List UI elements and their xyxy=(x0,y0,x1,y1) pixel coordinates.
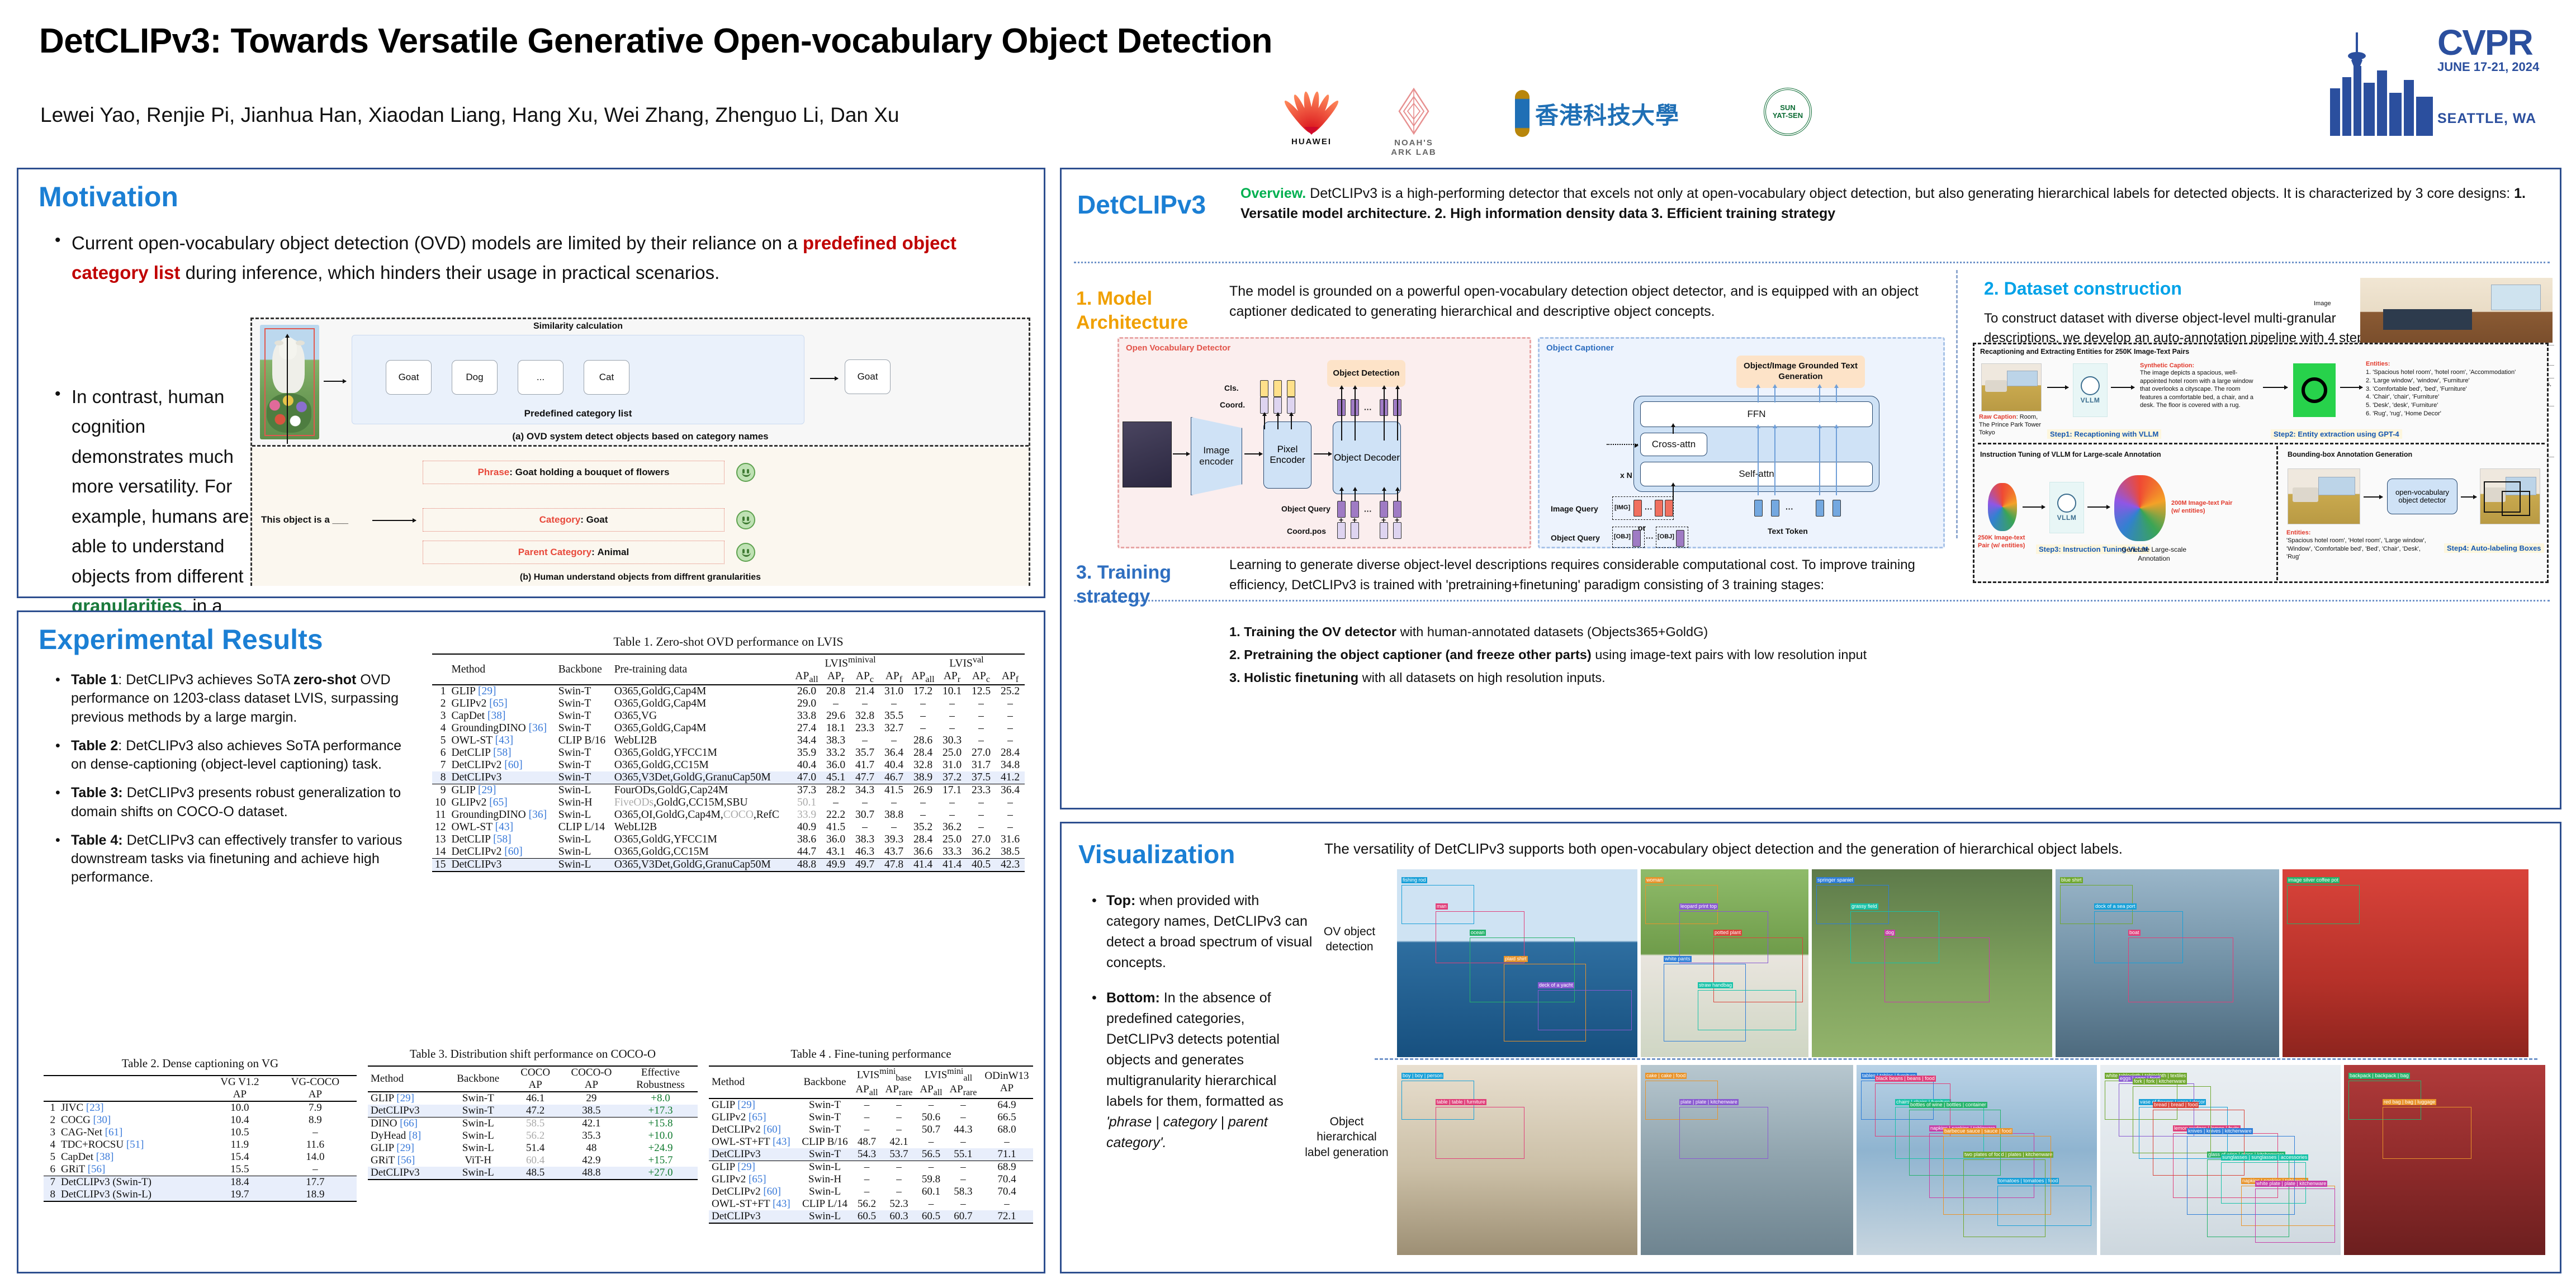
row-backbone: Swin-T xyxy=(798,1098,852,1111)
row-value: 38.3 xyxy=(821,735,850,747)
granularity-value-parent: Animal xyxy=(598,547,629,558)
detection-box xyxy=(1698,990,1796,1030)
category-chip-goat: Goat xyxy=(386,360,432,395)
row-robustness: +15.8 xyxy=(623,1117,698,1130)
row-value: 36.0 xyxy=(821,834,850,846)
row-value: 34.3 xyxy=(850,784,879,797)
image-query-label: Image Query xyxy=(1551,504,1598,513)
dataset-pipeline-figure: Recaptioning and Extracting Entities for… xyxy=(1973,343,2549,583)
row-value: 50.1 xyxy=(792,797,821,809)
row-method: JIVC [23] xyxy=(58,1101,206,1114)
row-method: GLIPv2 [65] xyxy=(709,1173,798,1186)
row-value: 17.1 xyxy=(937,784,967,797)
author-list: Lewei Yao, Renjie Pi, Jianhua Han, Xiaod… xyxy=(40,103,899,127)
row-value: 54.3 xyxy=(852,1148,882,1161)
row-data: O365,GoldG,YFCC1M xyxy=(612,747,792,759)
row-value: – xyxy=(908,698,937,710)
smiley-icon-2 xyxy=(736,510,755,529)
row-value: – xyxy=(879,698,908,710)
table-row: 8DetCLIPv3Swin-TO365,V3Det,GoldG,GranuCa… xyxy=(432,771,1025,784)
row-value: 15.4 xyxy=(206,1151,274,1163)
row-value: 28.4 xyxy=(908,747,937,759)
row-value: 25.2 xyxy=(996,685,1025,698)
table-row: 10GLIPv2 [65]Swin-HFiveODs,GoldG,CC15M,S… xyxy=(432,797,1025,809)
row-data: O365,V3Det,GoldG,GranuCap50M xyxy=(612,859,792,872)
table-row: 2COCG [30]10.48.9 xyxy=(44,1114,357,1126)
t1-h-data: Pre-training data xyxy=(612,654,792,685)
row-coco: 56.2 xyxy=(511,1130,559,1142)
cls-label: Cls. xyxy=(1224,383,1239,392)
row-method: OWL-ST [43] xyxy=(449,821,556,834)
visualization-row-bottom: boy | boy | persontable | table | furnit… xyxy=(1397,1065,2545,1255)
row-value: 50.6 xyxy=(916,1111,946,1124)
row-value: – xyxy=(821,698,850,710)
row-backbone: Swin-T xyxy=(798,1148,852,1161)
detection-label: woman xyxy=(1645,877,1664,883)
motivation-bullet-2-a: In contrast, human cognition demonstrate… xyxy=(72,386,249,586)
row-value: – xyxy=(908,722,937,735)
row-value: 22.2 xyxy=(821,809,850,821)
category-chip-dog: Dog xyxy=(452,360,498,395)
row-method: GroundingDINO [36] xyxy=(449,809,556,821)
entity-item-3: 3. 'Comfortable bed', 'bed', 'Furniture' xyxy=(2366,385,2539,394)
motivation-figure-b: This object is a ___ Phrase: Goat holdin… xyxy=(252,448,1029,586)
overview-label: Overview. xyxy=(1240,186,1306,201)
row-value: 36.2 xyxy=(937,821,967,834)
row-value: 47.0 xyxy=(792,771,821,784)
detection-box xyxy=(1538,990,1632,1030)
goat-image xyxy=(260,325,319,439)
category-chip-ellipsis: ... xyxy=(518,360,563,395)
granularity-row-phrase: Phrase: Goat holding a bouquet of flower… xyxy=(423,461,724,484)
row-index: 6 xyxy=(44,1163,58,1176)
row-backbone: Swin-L xyxy=(798,1186,852,1198)
t4-sub-1: APrare xyxy=(882,1083,916,1098)
row-value: 64.9 xyxy=(981,1098,1033,1111)
t4-sub-3: APrare xyxy=(946,1083,981,1098)
t1-sub-7: APf xyxy=(996,670,1025,685)
row-data: O365,V3Det,GoldG,GranuCap50M xyxy=(612,771,792,784)
row-value: 34.8 xyxy=(996,759,1025,771)
table-row: DetCLIPv3Swin-L48.548.8+27.0 xyxy=(368,1167,698,1180)
row-value: – xyxy=(946,1111,981,1124)
row-backbone: Swin-T xyxy=(556,685,612,698)
row-value: – xyxy=(967,710,996,722)
visualization-image: white tablecloth | tablecloth | textiles… xyxy=(2100,1065,2341,1255)
table3-container: Table 3. Distribution shift performance … xyxy=(368,1047,698,1180)
entity-item-4: 4. 'Chair', 'chair', 'Furniture' xyxy=(2366,393,2539,401)
row-value: 33.3 xyxy=(937,846,967,859)
step4-tag: Step4: Auto-labeling Boxes xyxy=(2444,543,2544,553)
t1-sub-5: APr xyxy=(937,670,967,685)
ovd-label: Open Vocabulary Detector xyxy=(1126,343,1230,353)
detection-label: grassy field xyxy=(1850,903,1878,910)
detection-label: table | table | furniture xyxy=(1436,1099,1486,1105)
row-value: – xyxy=(274,1163,357,1176)
row-value: 70.4 xyxy=(981,1173,1033,1186)
t2-h-vgcoco: VG-COCO xyxy=(274,1076,357,1088)
row-backbone: Swin-T xyxy=(556,759,612,771)
pipeline-panel1-title: Recaptioning and Extracting Entities for… xyxy=(1980,348,2189,356)
row-value: 33.8 xyxy=(792,710,821,722)
row-value: – xyxy=(967,735,996,747)
row-value: – xyxy=(852,1173,882,1186)
smiley-icon-1 xyxy=(736,463,755,482)
row-index: 1 xyxy=(44,1101,58,1114)
t1-sub-6: APc xyxy=(967,670,996,685)
annotated-room-image xyxy=(2480,468,2540,524)
row-data: O365,GoldG,Cap4M xyxy=(612,698,792,710)
llama-icon-1 xyxy=(2081,376,2100,395)
row-method: DetCLIP [58] xyxy=(449,747,556,759)
row-label-hierarchical: Object hierarchical label generation xyxy=(1305,1114,1389,1160)
object-query-label: Object Query xyxy=(1281,504,1330,513)
t2-h-vg: VG V1.2 xyxy=(206,1076,274,1088)
detection-label: barbecue sauce | sauce | food xyxy=(1943,1128,2012,1134)
row-value: 35.9 xyxy=(792,747,821,759)
detclipv3-title: DetCLIPv3 xyxy=(1077,190,1206,220)
detection-box xyxy=(1884,937,1990,1002)
row-method: OWL-ST+FT [43] xyxy=(709,1198,798,1210)
row-index: 11 xyxy=(432,809,449,821)
row-value: 33.9 xyxy=(792,809,821,821)
row-backbone: ViT-H xyxy=(445,1154,511,1167)
row-value: 66.5 xyxy=(981,1111,1033,1124)
row-value: 36.0 xyxy=(821,759,850,771)
raw-caption-block: Raw Caption: Room, The Prince Park Tower… xyxy=(1979,414,2046,437)
table-row: 11GroundingDINO [36]Swin-LO365,OI,GoldG,… xyxy=(432,809,1025,821)
row-value: 39.3 xyxy=(879,834,908,846)
row-value: 28.4 xyxy=(908,834,937,846)
row-value: 10.4 xyxy=(206,1114,274,1126)
row-backbone: Swin-L xyxy=(445,1130,511,1142)
row-value: 23.3 xyxy=(967,784,996,797)
row-value: 26.0 xyxy=(792,685,821,698)
training-stage-2-num: 2. xyxy=(1229,647,1240,662)
cvpr-logo: CVPR JUNE 17-21, 2024 SEATTLE, WA xyxy=(2326,11,2549,145)
table-row: 5OWL-ST [43]CLIP B/16WebLI2B34.438.3––28… xyxy=(432,735,1025,747)
row-backbone: Swin-L xyxy=(445,1142,511,1154)
exp-b1-lead: Table 1 xyxy=(71,672,118,688)
table-row: GLIPv2 [65]Swin-H––59.8–70.4 xyxy=(709,1173,1033,1186)
detection-box xyxy=(2133,1086,2211,1153)
hkust-mark-icon xyxy=(1515,90,1529,137)
entity-item-5: 5. 'Desk', 'desk', 'Furniture' xyxy=(2366,401,2539,410)
prompt-text: This object is a ___ xyxy=(261,514,348,525)
row-method: GLIP [29] xyxy=(709,1098,798,1111)
similarity-calculation-box: Similarity calculation Goat Dog ... Cat … xyxy=(352,335,804,424)
experimental-results-title: Experimental Results xyxy=(39,623,323,656)
motivation-bullet-1-a: Current open-vocabulary object detection… xyxy=(72,233,803,253)
detection-label: red bag | bag | luggage xyxy=(2383,1099,2436,1105)
t1-h-backbone: Backbone xyxy=(556,654,612,685)
row-method: GLIP [29] xyxy=(368,1142,445,1154)
visualization-image: tables | tables | furniturechairs | chai… xyxy=(1857,1065,2097,1255)
row-method: DetCLIPv2 [60] xyxy=(449,846,556,859)
table2-container: Table 2. Dense captioning on VG VG V1.2 … xyxy=(44,1057,357,1202)
table-row: GLIP [29]Swin-L51.448+24.9 xyxy=(368,1142,698,1154)
visualization-image: image silver coffee pot xyxy=(2283,869,2528,1057)
motivation-figure-b-caption: (b) Human understand objects from diffre… xyxy=(252,572,1029,583)
row-value: – xyxy=(996,698,1025,710)
huawei-logo: HUAWEI xyxy=(1286,87,1337,146)
visualization-image: fishing rodmanoceanplaid shirtdeck of a … xyxy=(1397,869,1637,1057)
detection-label: boy | boy | person xyxy=(1401,1073,1443,1079)
experimental-results-panel: Experimental Results • Table 1: DetCLIPv… xyxy=(17,610,1045,1273)
row-value: 56.2 xyxy=(852,1198,882,1210)
table2-body: 1JIVC [23]10.07.92COCG [30]10.48.93CAG-N… xyxy=(44,1101,357,1201)
row-data: WebLI2B xyxy=(612,821,792,834)
row-value: 60.1 xyxy=(916,1186,946,1198)
detection-label: plaid shirt xyxy=(1504,956,1528,962)
page-title: DetCLIPv3: Towards Versatile Generative … xyxy=(39,21,1272,61)
vis-b2-rest: In the absence of predefined categories,… xyxy=(1106,990,1284,1109)
table-row: 5CapDet [38]15.414.0 xyxy=(44,1151,357,1163)
table4-body: GLIP [29]Swin-T––––64.9GLIPv2 [65]Swin-T… xyxy=(709,1098,1033,1223)
row-method: CapDet [38] xyxy=(449,710,556,722)
row-index: 1 xyxy=(432,685,449,698)
row-value: 30.3 xyxy=(937,735,967,747)
row-index: 2 xyxy=(432,698,449,710)
table1-container: Table 1. Zero-shot OVD performance on LV… xyxy=(432,634,1025,872)
row-value: 28.4 xyxy=(996,747,1025,759)
t4-h-method: Method xyxy=(709,1066,798,1098)
250k-label: 250K Image-text Pair (w/ entities) xyxy=(1978,534,2034,550)
training-stage-3-bold: Holistic finetuning xyxy=(1244,670,1358,685)
row-data: O365,GoldG,CC15M xyxy=(612,759,792,771)
section-training-strategy-title: 3. Training strategy xyxy=(1076,561,1221,608)
visualization-image: blue shirtdock of a sea portboat xyxy=(2056,869,2279,1057)
row-value: – xyxy=(882,1173,916,1186)
row-backbone: Swin-T xyxy=(556,747,612,759)
row-data: FourODs,GoldG,Cap24M xyxy=(612,784,792,797)
row-backbone: Swin-T xyxy=(556,698,612,710)
row-value: 18.1 xyxy=(821,722,850,735)
row-backbone: Swin-L xyxy=(556,784,612,797)
row-value: – xyxy=(946,1161,981,1173)
row-cocoo: 38.5 xyxy=(560,1105,623,1117)
granularity-value-category: Goat xyxy=(586,514,608,525)
row-value: – xyxy=(937,809,967,821)
row-value: 60.5 xyxy=(852,1210,882,1223)
row-data: WebLI2B xyxy=(612,735,792,747)
detection-box xyxy=(1436,1107,1524,1159)
table2-caption: Table 2. Dense captioning on VG xyxy=(44,1057,357,1071)
row-value: 23.3 xyxy=(850,722,879,735)
row-backbone: Swin-L xyxy=(556,846,612,859)
t1-sub-0: APall xyxy=(792,670,821,685)
row-value: 10.0 xyxy=(206,1101,274,1114)
row-index: 8 xyxy=(432,771,449,784)
row-value: 21.4 xyxy=(850,685,879,698)
synthetic-caption-label: Synthetic Caption: xyxy=(2140,362,2257,369)
t1-sub-2: APc xyxy=(850,670,879,685)
row-method: GLIPv2 [65] xyxy=(449,698,556,710)
row-value: 59.8 xyxy=(916,1173,946,1186)
row-value: 17.2 xyxy=(908,685,937,698)
table-row: DetCLIPv3 Swin-T54.353.756.555.171.1 xyxy=(709,1148,1033,1161)
row-value: 29.0 xyxy=(792,698,821,710)
table-row: 15DetCLIPv3Swin-LO365,V3Det,GoldG,GranuC… xyxy=(432,859,1025,872)
text-generation-output: Object/Image Grounded Text Generation xyxy=(1736,356,1865,388)
table-row: GLIP [29]Swin-L––––68.9 xyxy=(709,1161,1033,1173)
synthetic-caption-block: Synthetic Caption: The image depicts a s… xyxy=(2140,362,2257,410)
row-value: – xyxy=(996,809,1025,821)
row-data: O365,VG xyxy=(612,710,792,722)
vllm-label-1: VLLM xyxy=(2081,396,2100,404)
row-label-ov-detection: OV object detection xyxy=(1316,924,1383,955)
row-value: 35.5 xyxy=(879,710,908,722)
row-value: 32.8 xyxy=(908,759,937,771)
detection-label: leopard print top xyxy=(1679,903,1718,910)
obj-token-label-2: [OBJ] xyxy=(1658,533,1674,540)
table1-caption: Table 1. Zero-shot OVD performance on LV… xyxy=(432,634,1025,649)
visualization-subtitle: The versatility of DetCLIPv3 supports bo… xyxy=(1324,840,2543,858)
row-index: 13 xyxy=(432,834,449,846)
row-value: 25.0 xyxy=(937,747,967,759)
row-value: 60.7 xyxy=(946,1210,981,1223)
openai-icon xyxy=(2302,377,2327,403)
table-row: DetCLIPv2 [60]Swin-L––60.158.370.4 xyxy=(709,1186,1033,1198)
table1-body: 1GLIP [29]Swin-TO365,GoldG,Cap4M26.020.8… xyxy=(432,685,1025,872)
row-index: 15 xyxy=(432,859,449,872)
row-index: 3 xyxy=(432,710,449,722)
t1-group-minival: LVISminival xyxy=(792,654,908,670)
row-value: – xyxy=(850,735,879,747)
row-backbone: Swin-L xyxy=(556,809,612,821)
obj-token-label-1: [OBJ] xyxy=(1614,533,1631,540)
detection-box xyxy=(2287,885,2360,924)
row-cocoo: 42.1 xyxy=(560,1117,623,1130)
detection-label: bottles of wine | bottles | container xyxy=(1909,1102,1987,1108)
row-value: – xyxy=(879,735,908,747)
row-value: 20.8 xyxy=(821,685,850,698)
table-row: OWL-ST+FT [43]CLIP L/1456.252.3––– xyxy=(709,1198,1033,1210)
row-method: TDC+ROCSU [51] xyxy=(58,1139,206,1151)
motivation-title: Motivation xyxy=(39,181,178,213)
detection-label: fishing rod xyxy=(1401,877,1427,883)
row-value: 7.9 xyxy=(274,1101,357,1114)
t4-sub-2: APall xyxy=(916,1083,946,1098)
row-value: – xyxy=(967,809,996,821)
row-method: GLIP [29] xyxy=(449,685,556,698)
captioner-label: Object Captioner xyxy=(1546,343,1614,353)
table1: Method Backbone Pre-training data LVISmi… xyxy=(432,654,1025,872)
granularity-value-phrase: Goat holding a bouquet of flowers xyxy=(515,467,670,478)
row-value: 27.0 xyxy=(967,834,996,846)
row-value: 8.9 xyxy=(274,1114,357,1126)
row-backbone: Swin-T xyxy=(556,722,612,735)
row-value: – xyxy=(946,1098,981,1111)
row-value: 71.1 xyxy=(981,1148,1033,1161)
step2-tag: Step2: Entity extraction using GPT-4 xyxy=(2271,429,2402,439)
training-stage-3-rest: with all datasets on high resolution inp… xyxy=(1358,670,1606,685)
row-value: – xyxy=(967,698,996,710)
detection-label: straw handbag xyxy=(1698,982,1733,988)
motivation-panel: Motivation • Current open-vocabulary obj… xyxy=(17,168,1045,598)
row-backbone: Swin-H xyxy=(798,1173,852,1186)
t1-sub-1: APr xyxy=(821,670,850,685)
t1-sub-3: APf xyxy=(879,670,908,685)
row-value: – xyxy=(882,1124,916,1136)
row-value: 34.4 xyxy=(792,735,821,747)
row-method: DINO [66] xyxy=(368,1117,445,1130)
row-value: 31.0 xyxy=(937,759,967,771)
row-value: 28.6 xyxy=(908,735,937,747)
table-row: 1JIVC [23]10.07.9 xyxy=(44,1101,357,1114)
row-value: 48.7 xyxy=(852,1136,882,1148)
detection-label: plate | plate | kitchenware xyxy=(1679,1099,1739,1105)
detection-box xyxy=(2255,1188,2335,1243)
row-value: – xyxy=(852,1161,882,1173)
table-row: DetCLIPv3Swin-T47.238.5+17.3 xyxy=(368,1105,698,1117)
row-method: GroundingDINO [36] xyxy=(449,722,556,735)
vis-b2-italic: 'phrase | category | parent category'. xyxy=(1106,1114,1268,1150)
similarity-calculation-label: Similarity calculation xyxy=(352,321,804,332)
row-value: 40.9 xyxy=(792,821,821,834)
table3-body: GLIP [29]Swin-T46.129+8.0DetCLIPv3Swin-T… xyxy=(368,1092,698,1180)
row-value: 42.1 xyxy=(882,1136,916,1148)
sysu-logo: SUNYAT-SEN xyxy=(1764,88,1812,136)
llama-icon-2 xyxy=(2057,494,2076,513)
row-value: – xyxy=(852,1186,882,1198)
row-value: 25.0 xyxy=(937,834,967,846)
cvpr-wordmark: CVPR xyxy=(2437,26,2539,60)
kitchen-image xyxy=(2360,278,2553,343)
table2: VG V1.2 VG-COCO AP AP 1JIVC [23]10.07.92… xyxy=(44,1075,357,1202)
row-value: 18.4 xyxy=(206,1176,274,1189)
xn-label: x N xyxy=(1620,471,1632,480)
image-encoder-block: Image encoder xyxy=(1191,417,1242,495)
row-index: 7 xyxy=(432,759,449,771)
row-coco: 47.2 xyxy=(511,1105,559,1117)
motivation-bullet-1-b: during inference, which hinders their us… xyxy=(180,262,719,283)
training-stage-1-num: 1. xyxy=(1229,624,1240,639)
pipeline-panel3-title: Instruction Tuning of VLLM for Large-sca… xyxy=(1980,451,2161,458)
row-value: – xyxy=(879,797,908,809)
object-detection-output: Object Detection xyxy=(1327,360,1405,387)
row-method: CapDet [38] xyxy=(58,1151,206,1163)
ds-image-row: Image xyxy=(2359,276,2554,345)
row-value: 41.7 xyxy=(850,759,879,771)
row-index: 3 xyxy=(44,1126,58,1139)
row-value: – xyxy=(937,797,967,809)
detection-box xyxy=(1943,1136,2051,1215)
detection-box xyxy=(2383,1107,2471,1159)
row-coco: 51.4 xyxy=(511,1142,559,1154)
t1-sub-4: APall xyxy=(908,670,937,685)
overview-body: DetCLIPv3 is a high-performing detector … xyxy=(1306,186,2514,201)
row-value: 10.5 xyxy=(206,1126,274,1139)
row-method: DetCLIPv3 xyxy=(368,1167,445,1180)
t3-h-backbone: Backbone xyxy=(445,1066,511,1092)
row-value: – xyxy=(882,1098,916,1111)
row-value: 55.1 xyxy=(946,1148,981,1161)
poster-header: DetCLIPv3: Towards Versatile Generative … xyxy=(0,0,2576,168)
row-cocoo: 48 xyxy=(560,1142,623,1154)
row-backbone: Swin-L xyxy=(556,834,612,846)
training-stage-2-bold: Pretraining the object captioner (and fr… xyxy=(1244,647,1592,662)
exp-b2-lead: Table 2 xyxy=(71,738,118,754)
section-model-architecture-title: 1. Model Architecture xyxy=(1076,287,1221,334)
visualization-bullet-bottom: • Bottom: In the absence of predefined c… xyxy=(1090,988,1313,1153)
training-stage-2-rest: using image-text pairs with low resoluti… xyxy=(1592,647,1867,662)
detection-box xyxy=(1679,1107,1768,1159)
row-value: – xyxy=(981,1198,1033,1210)
overview-text: Overview. DetCLIPv3 is a high-performing… xyxy=(1240,184,2537,224)
input-image xyxy=(1123,422,1172,487)
table-row: 6DetCLIP [58]Swin-TO365,GoldG,YFCC1M35.9… xyxy=(432,747,1025,759)
